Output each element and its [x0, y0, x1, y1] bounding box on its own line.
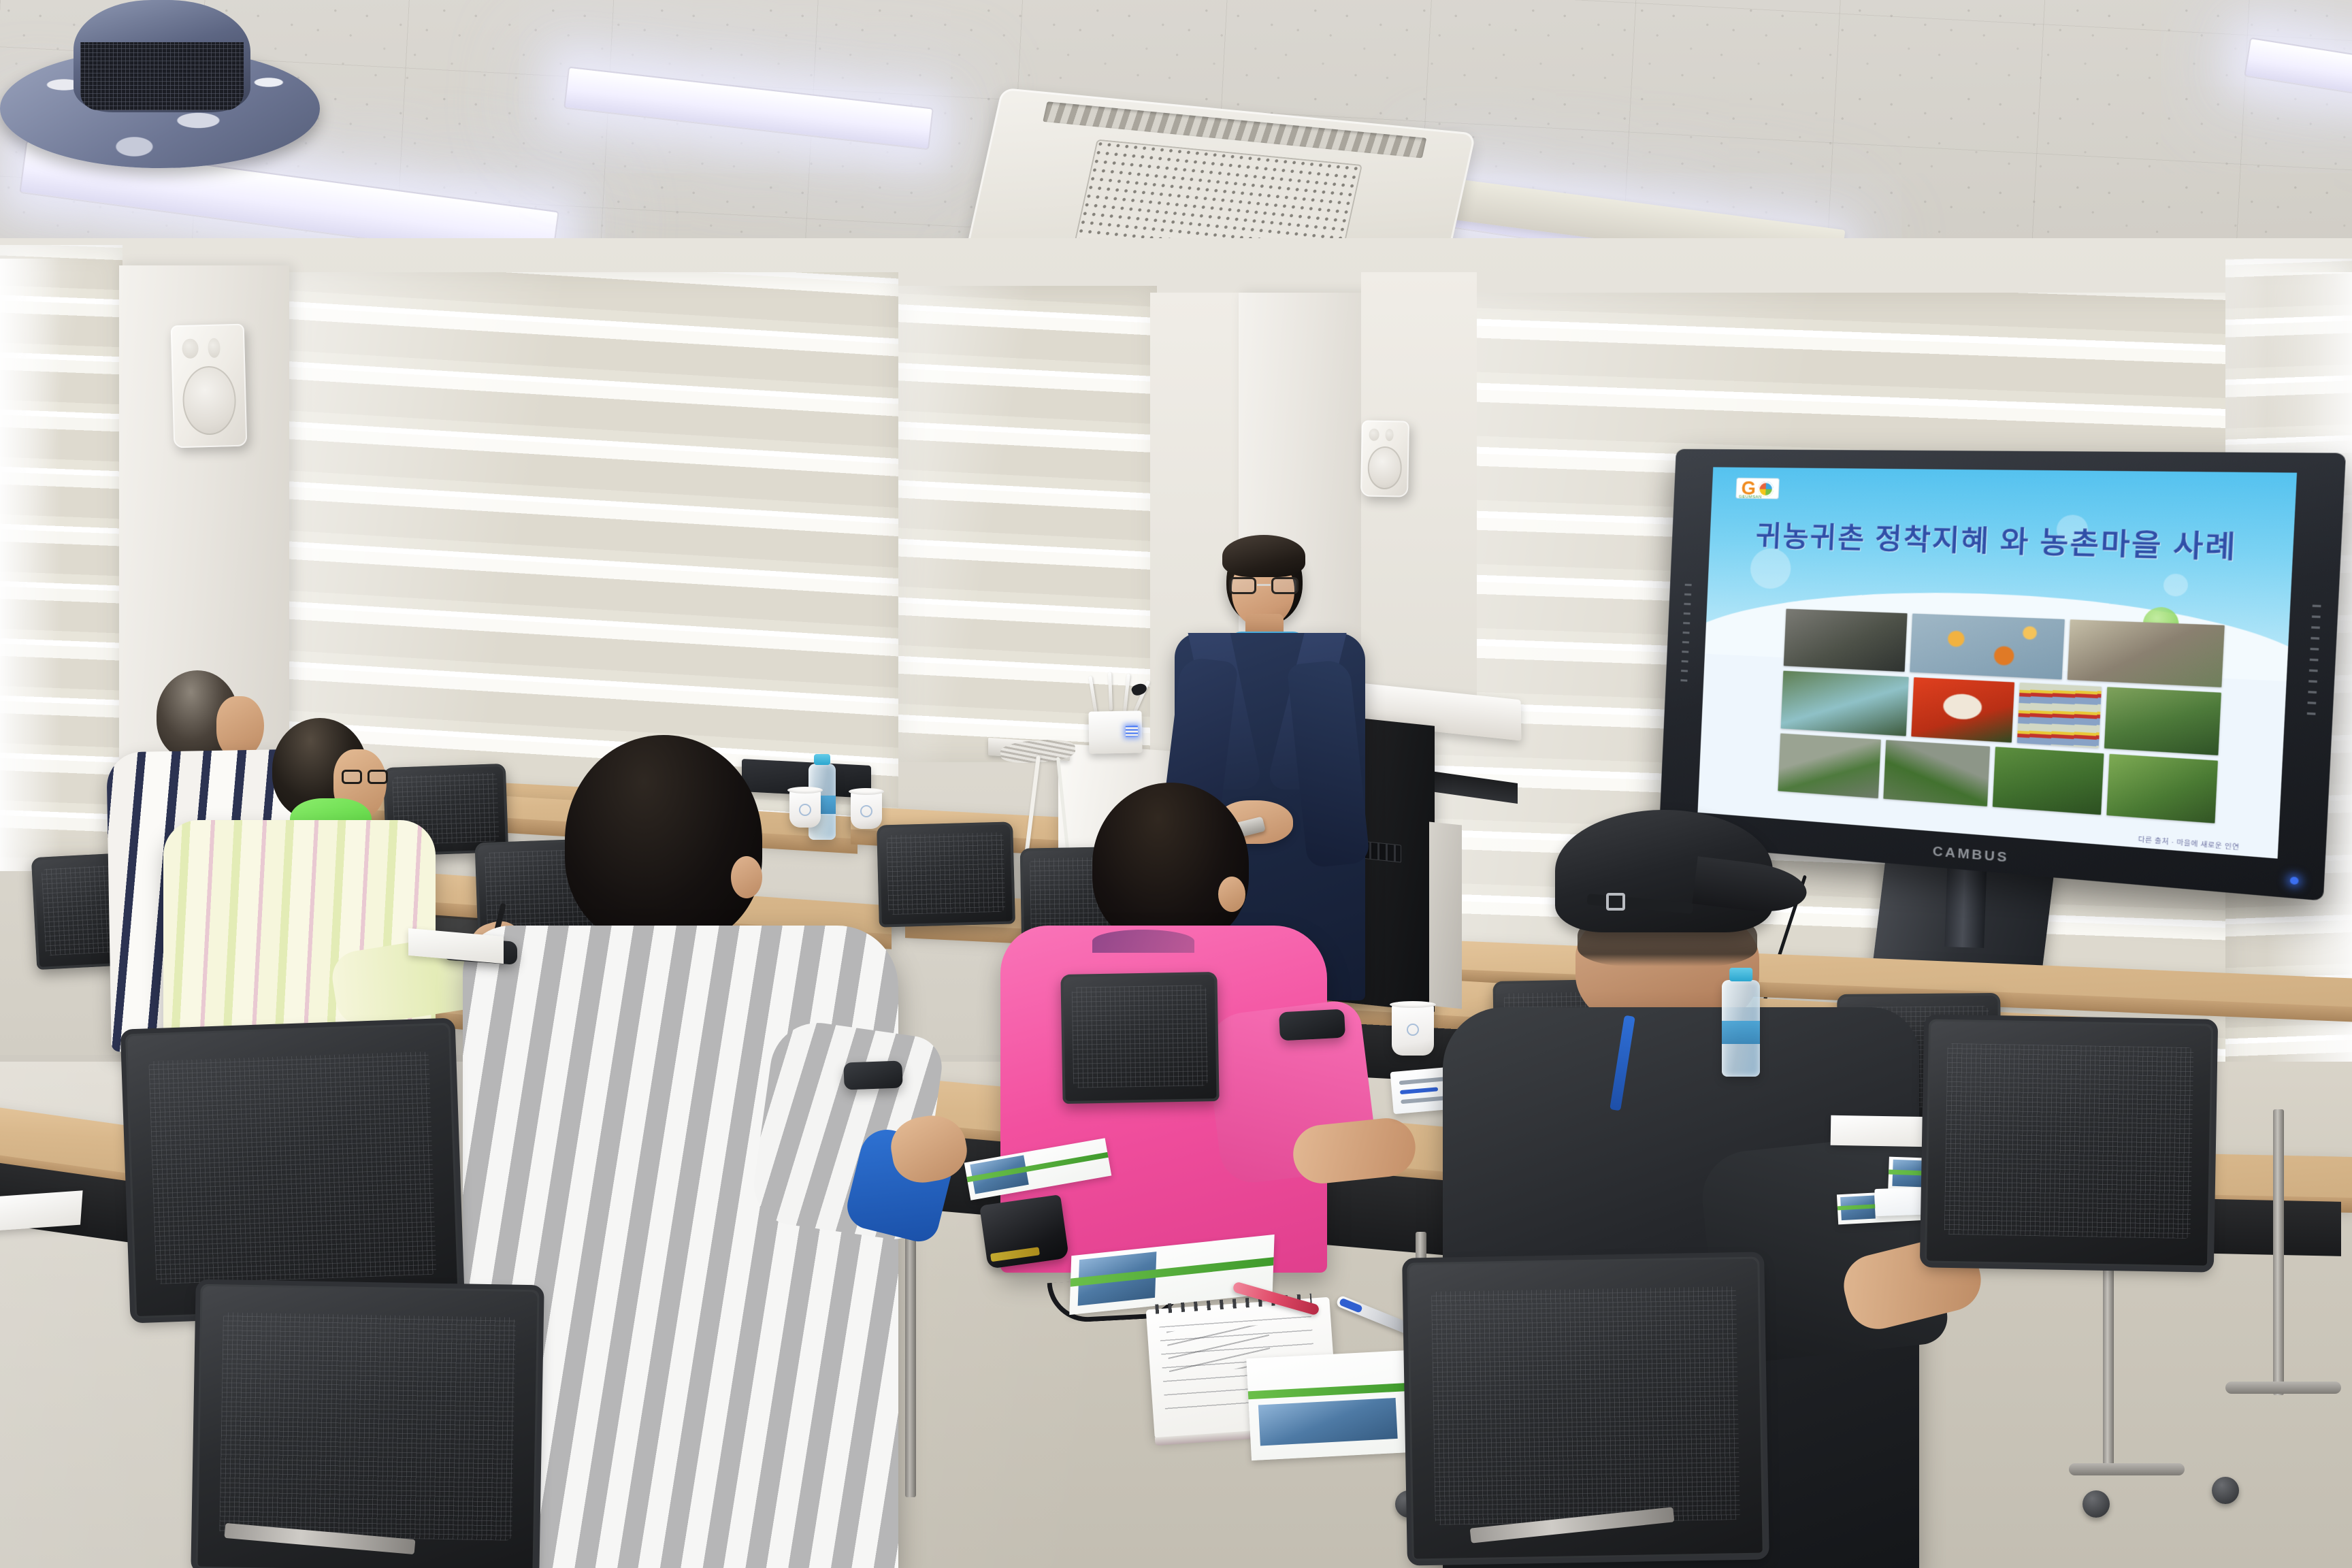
bottle-label	[1722, 1021, 1760, 1044]
wall-speaker-icon	[1360, 420, 1409, 497]
router-led-indicator	[1126, 725, 1138, 736]
window-blinds	[898, 286, 1157, 762]
slide-photo	[1778, 734, 1881, 798]
slide-photo	[1883, 740, 1990, 806]
wifi-router-icon	[1088, 710, 1142, 753]
paper-cup-icon	[1392, 1004, 1434, 1056]
attendee-ear	[731, 856, 762, 898]
table-caster-icon	[2082, 1490, 2110, 1518]
attendee-head	[565, 735, 762, 946]
presentation-slide: G GEUMSAN 귀농귀촌 정착지혜 와 농촌마을 사례	[1698, 467, 2298, 858]
paper-sheet	[1831, 1115, 1933, 1147]
slide-photo	[1781, 671, 1909, 736]
slide-photo	[1910, 613, 2064, 680]
slide-organization-logo: G GEUMSAN	[1735, 478, 1779, 499]
slide-photo	[1993, 747, 2104, 815]
globe-icon	[1757, 481, 1773, 497]
office-chair	[1924, 1018, 2214, 1268]
logo-letter: G	[1741, 480, 1756, 497]
attendee-head	[1092, 783, 1249, 946]
camera-case	[979, 1194, 1069, 1269]
attendee-ear	[1218, 877, 1245, 912]
slide-photo	[2107, 754, 2218, 823]
office-chair	[125, 1022, 461, 1319]
classroom-photo-scene: CAMBUS G GEUMSAN 귀농귀촌 정착지혜 와 농촌마을 사례	[0, 0, 2352, 1568]
wall-segment	[1361, 272, 1477, 721]
office-chair	[1060, 972, 1219, 1104]
slide-photo	[1784, 608, 1908, 672]
table-leg	[2273, 1109, 2284, 1395]
hat-mesh-band	[80, 42, 244, 110]
table-foot	[2225, 1382, 2341, 1394]
bezel-control-dots	[1680, 584, 1692, 687]
eyeglasses-icon	[1229, 577, 1298, 595]
table-caster-icon	[2212, 1477, 2239, 1504]
eyeglasses-icon	[342, 770, 388, 785]
smartphone-icon	[1279, 1009, 1345, 1041]
logo-subtext: GEUMSAN	[1739, 495, 1762, 500]
slide-photo	[2017, 683, 2102, 748]
shirt-collar	[1092, 930, 1194, 953]
slide-photo-grid	[1778, 608, 2225, 823]
slide-photo	[2104, 687, 2221, 755]
table-foot	[2069, 1463, 2185, 1475]
brochure	[1246, 1350, 1415, 1460]
display-screen[interactable]: G GEUMSAN 귀농귀촌 정착지혜 와 농촌마을 사례	[1698, 467, 2298, 858]
cap-buckle-icon	[1606, 893, 1625, 911]
bottle-cap	[1729, 968, 1752, 981]
water-bottle-icon	[1722, 980, 1760, 1077]
slide-photo	[2067, 619, 2225, 688]
wall-speaker-icon	[171, 324, 248, 448]
smartphone-icon	[843, 1061, 902, 1090]
slide-photo	[1911, 677, 2014, 742]
bezel-control-dots	[2306, 605, 2321, 721]
slide-caption: 다른 출처 · 마을에 새로운 인연	[2138, 834, 2239, 852]
presenter-hair	[1222, 535, 1305, 577]
table-leg	[2103, 1245, 2114, 1470]
